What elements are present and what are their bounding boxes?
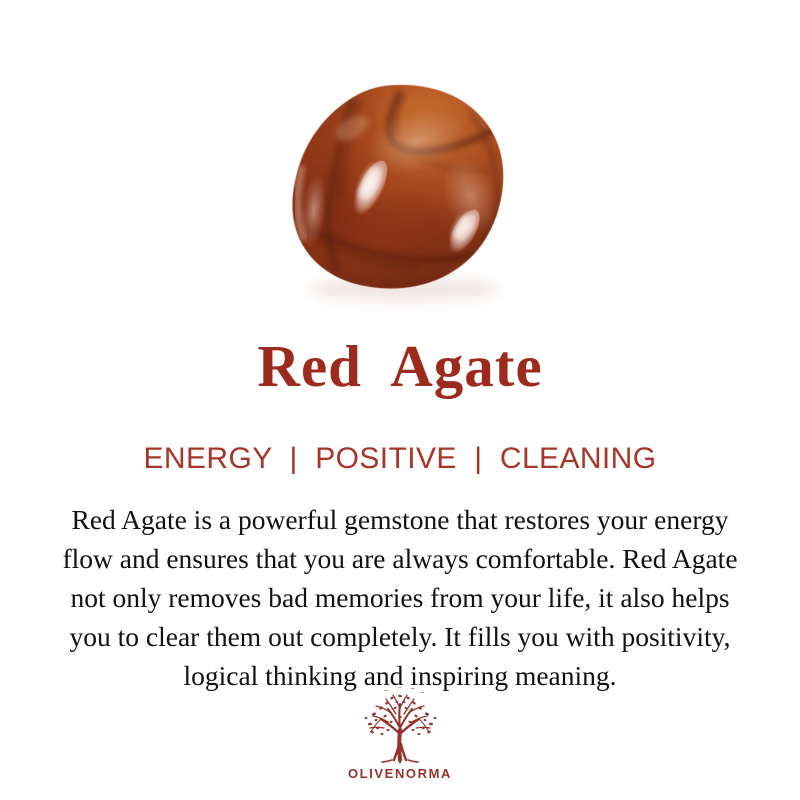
description-line: Red Agate is a powerful gemstone that re… xyxy=(18,500,782,539)
brand-wordmark: OLIVENORMA xyxy=(0,766,800,781)
stone-body xyxy=(280,70,530,310)
description-line: not only removes bad memories from your … xyxy=(18,578,782,617)
tree-of-life-icon xyxy=(354,684,446,764)
tree-roots xyxy=(382,760,418,763)
red-agate-stone-illustration xyxy=(0,0,800,320)
product-image xyxy=(0,0,800,320)
product-info-card: Red Agate ENERGY | POSITIVE | CLEANING R… xyxy=(0,0,800,800)
keyword-line: ENERGY | POSITIVE | CLEANING xyxy=(0,440,800,478)
description-text: Red Agate is a powerful gemstone that re… xyxy=(18,500,782,695)
page-title: Red Agate xyxy=(0,334,800,398)
description-line: you to clear them out completely. It fil… xyxy=(18,617,782,656)
brand-logo: OLIVENORMA xyxy=(0,684,800,781)
description-line: flow and ensures that you are always com… xyxy=(18,539,782,578)
